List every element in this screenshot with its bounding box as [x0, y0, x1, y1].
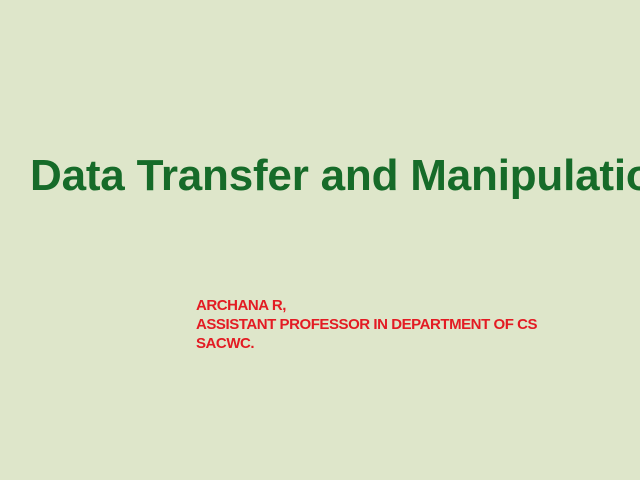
author-institution-line: SACWC. [196, 334, 616, 353]
presentation-slide: Data Transfer and Manipulation ARCHANA R… [0, 0, 640, 480]
author-name-line: ARCHANA R, [196, 296, 616, 315]
slide-title: Data Transfer and Manipulation [30, 152, 620, 200]
author-credits-block: ARCHANA R, ASSISTANT PROFESSOR IN DEPART… [196, 296, 616, 353]
author-designation-line: ASSISTANT PROFESSOR IN DEPARTMENT OF CS [196, 315, 616, 334]
